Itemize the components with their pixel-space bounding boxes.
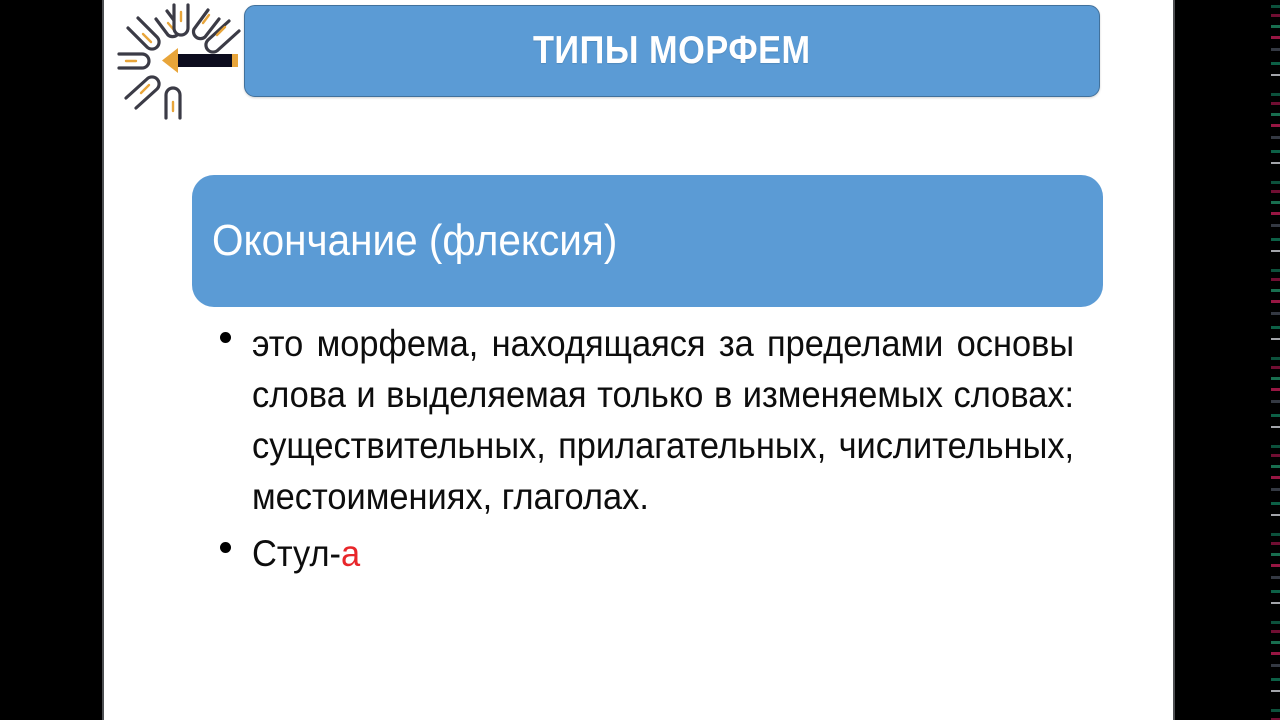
example-word-stem: Стул-	[252, 533, 341, 574]
bullet-list: это морфема, находящаяся за пределами ос…	[216, 318, 1076, 585]
bullet-text-definition: это морфема, находящаяся за пределами ос…	[252, 318, 1074, 522]
subtitle-label: Окончание (флексия)	[212, 216, 617, 266]
video-frame: ТИПЫ МОРФЕМ Окончание (флексия) это морф…	[0, 0, 1280, 720]
bullet-dot-icon	[220, 332, 231, 343]
list-item: это морфема, находящаяся за пределами ос…	[216, 318, 1076, 522]
letterbox-bar-left	[0, 0, 102, 720]
presentation-slide: ТИПЫ МОРФЕМ Окончание (флексия) это морф…	[104, 0, 1173, 720]
slide-title-plate: ТИПЫ МОРФЕМ	[244, 5, 1100, 97]
slide-edge-seam-right	[1173, 0, 1175, 720]
compression-artifact-strip	[1271, 0, 1280, 720]
pencil-burst-icon	[116, 2, 246, 120]
bullet-text-example: Стул-а	[252, 528, 1074, 579]
list-item: Стул-а	[216, 528, 1076, 579]
bullet-dot-icon	[220, 542, 231, 553]
slide-subtitle-plate: Окончание (флексия)	[192, 175, 1103, 307]
letterbox-bar-right	[1175, 0, 1280, 720]
example-word-ending: а	[341, 533, 360, 574]
page-title: ТИПЫ МОРФЕМ	[533, 29, 811, 73]
